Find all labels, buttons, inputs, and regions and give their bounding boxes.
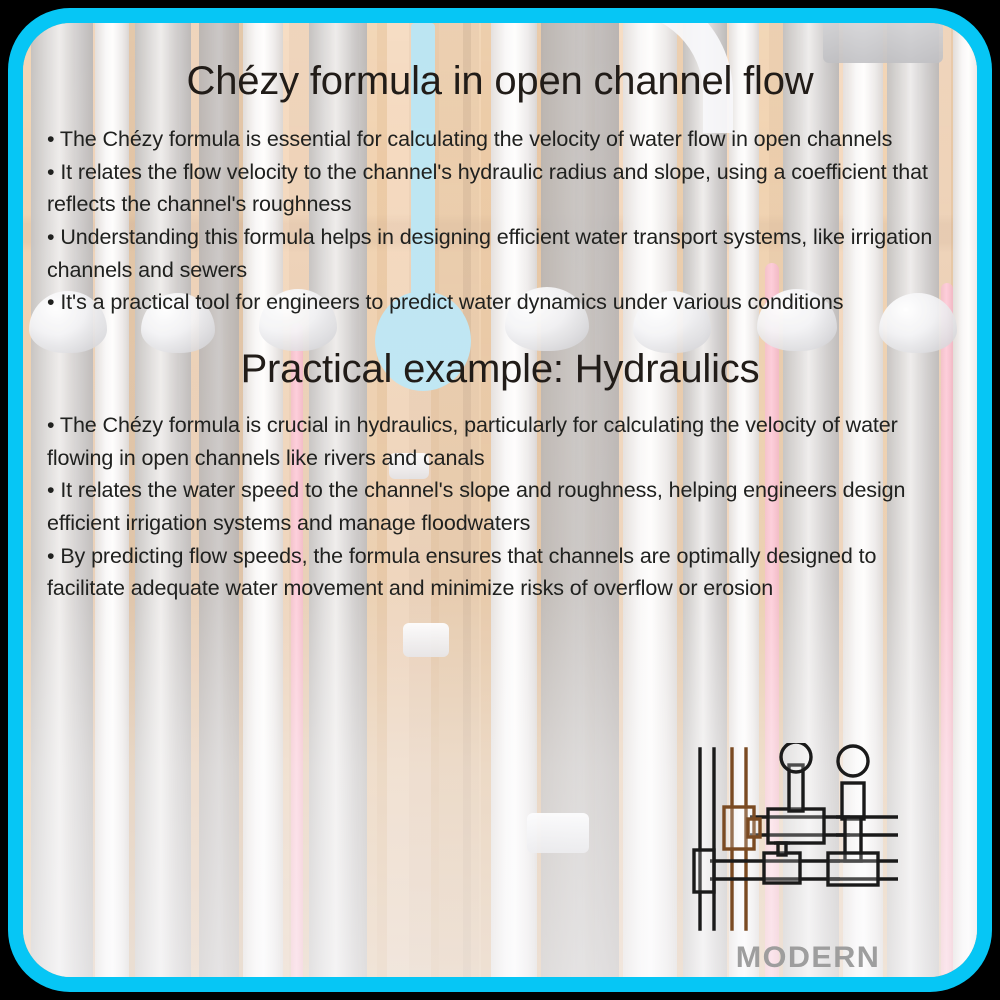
list-item: Understanding this formula helps in desi… — [47, 221, 953, 286]
piping-valve-schematic-icon — [690, 743, 905, 933]
page-title: Chézy formula in open channel flow — [47, 59, 953, 103]
list-item: It relates the flow velocity to the chan… — [47, 156, 953, 221]
screenshot-canvas: Chézy formula in open channel flow The C… — [0, 0, 1000, 1000]
slide-card: Chézy formula in open channel flow The C… — [23, 23, 977, 977]
bullet-list-overview: The Chézy formula is essential for calcu… — [47, 123, 953, 319]
list-item: It's a practical tool for engineers to p… — [47, 286, 953, 319]
bullet-list-practical-example: The Chézy formula is crucial in hydrauli… — [47, 409, 953, 605]
brand-logo: MODERN PHYSICS — [668, 743, 928, 977]
section-title: Practical example: Hydraulics — [47, 347, 953, 391]
list-item: By predicting flow speeds, the formula e… — [47, 540, 953, 605]
logo-wordmark: MODERN PHYSICS — [684, 941, 933, 977]
list-item: The Chézy formula is crucial in hydrauli… — [47, 409, 953, 474]
list-item: It relates the water speed to the channe… — [47, 474, 953, 539]
list-item: The Chézy formula is essential for calcu… — [47, 123, 953, 156]
